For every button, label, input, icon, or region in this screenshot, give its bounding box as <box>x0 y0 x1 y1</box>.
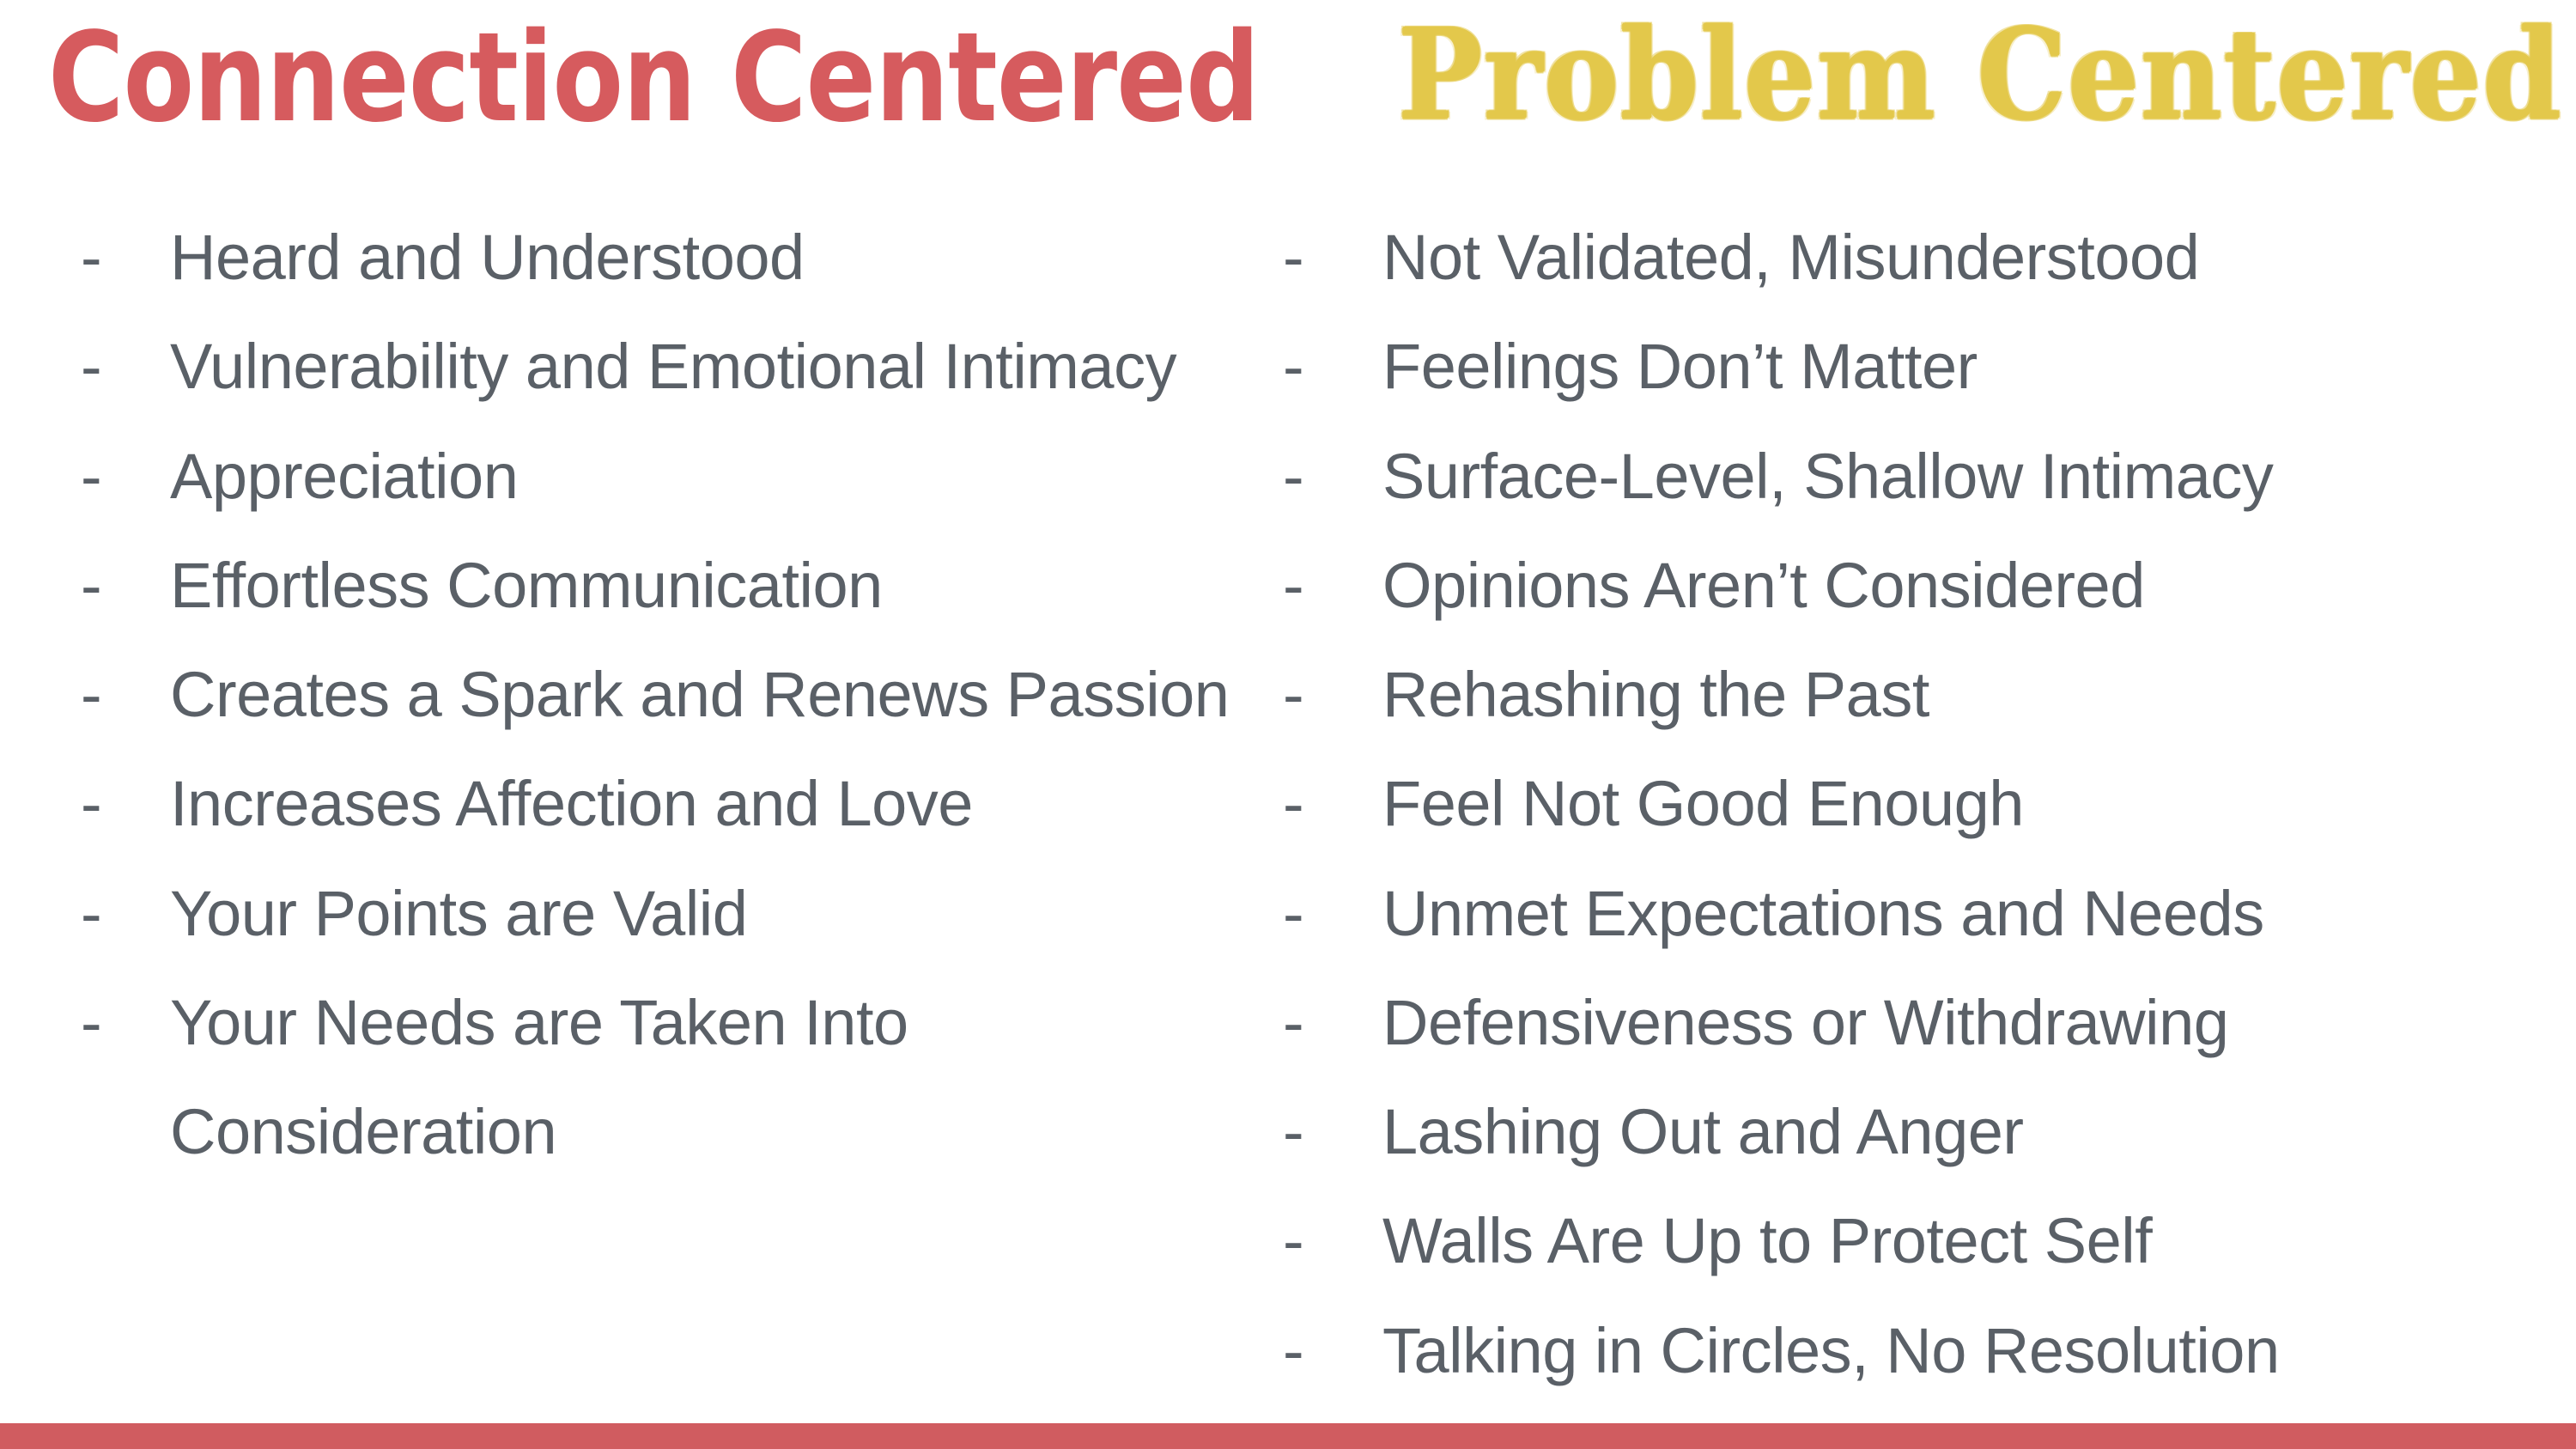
list-item: - Vulnerability and Emotional Intimacy <box>69 312 1271 421</box>
dash-bullet-icon: - <box>1278 640 1382 749</box>
list-item-label: Not Validated, Misunderstood <box>1382 203 2566 312</box>
column-connection-centered: - Heard and Understood - Vulnerability a… <box>69 203 1271 1186</box>
list-item: - Defensiveness or Withdrawing <box>1278 968 2566 1077</box>
dash-bullet-icon: - <box>1278 422 1382 531</box>
dash-bullet-icon: - <box>1278 203 1382 312</box>
list-item: - Creates a Spark and Renews Passion <box>69 640 1271 749</box>
dash-bullet-icon: - <box>1278 312 1382 421</box>
dash-bullet-icon: - <box>1278 1296 1382 1405</box>
list-item-label: Rehashing the Past <box>1382 640 2566 749</box>
list-item: - Feelings Don’t Matter <box>1278 312 2566 421</box>
list-item: - Your Needs are Taken Into Consideratio… <box>69 968 1271 1187</box>
list-item: - Walls Are Up to Protect Self <box>1278 1186 2566 1295</box>
dash-bullet-icon: - <box>69 640 170 749</box>
list-item: - Talking in Circles, No Resolution <box>1278 1296 2566 1405</box>
list-item-label: Opinions Aren’t Considered <box>1382 531 2566 640</box>
list-item-label: Your Points are Valid <box>170 859 1271 968</box>
list-item: - Heard and Understood <box>69 203 1271 312</box>
list-item-label: Heard and Understood <box>170 203 1271 312</box>
list-item-label: Walls Are Up to Protect Self <box>1382 1186 2566 1295</box>
list-item: - Your Points are Valid <box>69 859 1271 968</box>
list-item-label: Vulnerability and Emotional Intimacy <box>170 312 1271 421</box>
heading-problem-centered: Problem Centered <box>1398 12 2562 137</box>
dash-bullet-icon: - <box>69 859 170 968</box>
connection-centered-list: - Heard and Understood - Vulnerability a… <box>69 203 1271 1186</box>
list-item-label: Lashing Out and Anger <box>1382 1077 2566 1186</box>
dash-bullet-icon: - <box>1278 749 1382 858</box>
column-problem-centered: - Not Validated, Misunderstood - Feeling… <box>1278 203 2566 1405</box>
list-item-label: Your Needs are Taken Into Consideration <box>170 968 1271 1187</box>
list-item: - Feel Not Good Enough <box>1278 749 2566 858</box>
list-item: - Opinions Aren’t Considered <box>1278 531 2566 640</box>
list-item-label: Effortless Communication <box>170 531 1271 640</box>
list-item-label: Surface-Level, Shallow Intimacy <box>1382 422 2566 531</box>
dash-bullet-icon: - <box>1278 859 1382 968</box>
heading-connection-centered: Connection Centered <box>48 15 1259 139</box>
list-item: - Not Validated, Misunderstood <box>1278 203 2566 312</box>
list-item-label: Creates a Spark and Renews Passion <box>170 640 1271 749</box>
list-item: - Increases Affection and Love <box>69 749 1271 858</box>
list-item: - Appreciation <box>69 422 1271 531</box>
list-item: - Surface-Level, Shallow Intimacy <box>1278 422 2566 531</box>
list-item-label: Appreciation <box>170 422 1271 531</box>
headings-row: Connection Centered Problem Centered <box>0 0 2576 198</box>
list-item-label: Unmet Expectations and Needs <box>1382 859 2566 968</box>
list-item: - Lashing Out and Anger <box>1278 1077 2566 1186</box>
bottom-accent-bar <box>0 1423 2576 1449</box>
list-item-label: Feel Not Good Enough <box>1382 749 2566 858</box>
list-item-label: Talking in Circles, No Resolution <box>1382 1296 2566 1405</box>
dash-bullet-icon: - <box>1278 1077 1382 1186</box>
dash-bullet-icon: - <box>69 749 170 858</box>
problem-centered-list: - Not Validated, Misunderstood - Feeling… <box>1278 203 2566 1405</box>
dash-bullet-icon: - <box>69 422 170 531</box>
dash-bullet-icon: - <box>69 531 170 640</box>
list-item-label: Feelings Don’t Matter <box>1382 312 2566 421</box>
list-item-label: Defensiveness or Withdrawing <box>1382 968 2566 1077</box>
dash-bullet-icon: - <box>69 968 170 1077</box>
list-item: - Unmet Expectations and Needs <box>1278 859 2566 968</box>
dash-bullet-icon: - <box>1278 968 1382 1077</box>
dash-bullet-icon: - <box>1278 1186 1382 1295</box>
dash-bullet-icon: - <box>69 203 170 312</box>
list-item: - Effortless Communication <box>69 531 1271 640</box>
list-item: - Rehashing the Past <box>1278 640 2566 749</box>
slide-canvas: Connection Centered Problem Centered - H… <box>0 0 2576 1449</box>
list-item-label: Increases Affection and Love <box>170 749 1271 858</box>
dash-bullet-icon: - <box>1278 531 1382 640</box>
dash-bullet-icon: - <box>69 312 170 421</box>
